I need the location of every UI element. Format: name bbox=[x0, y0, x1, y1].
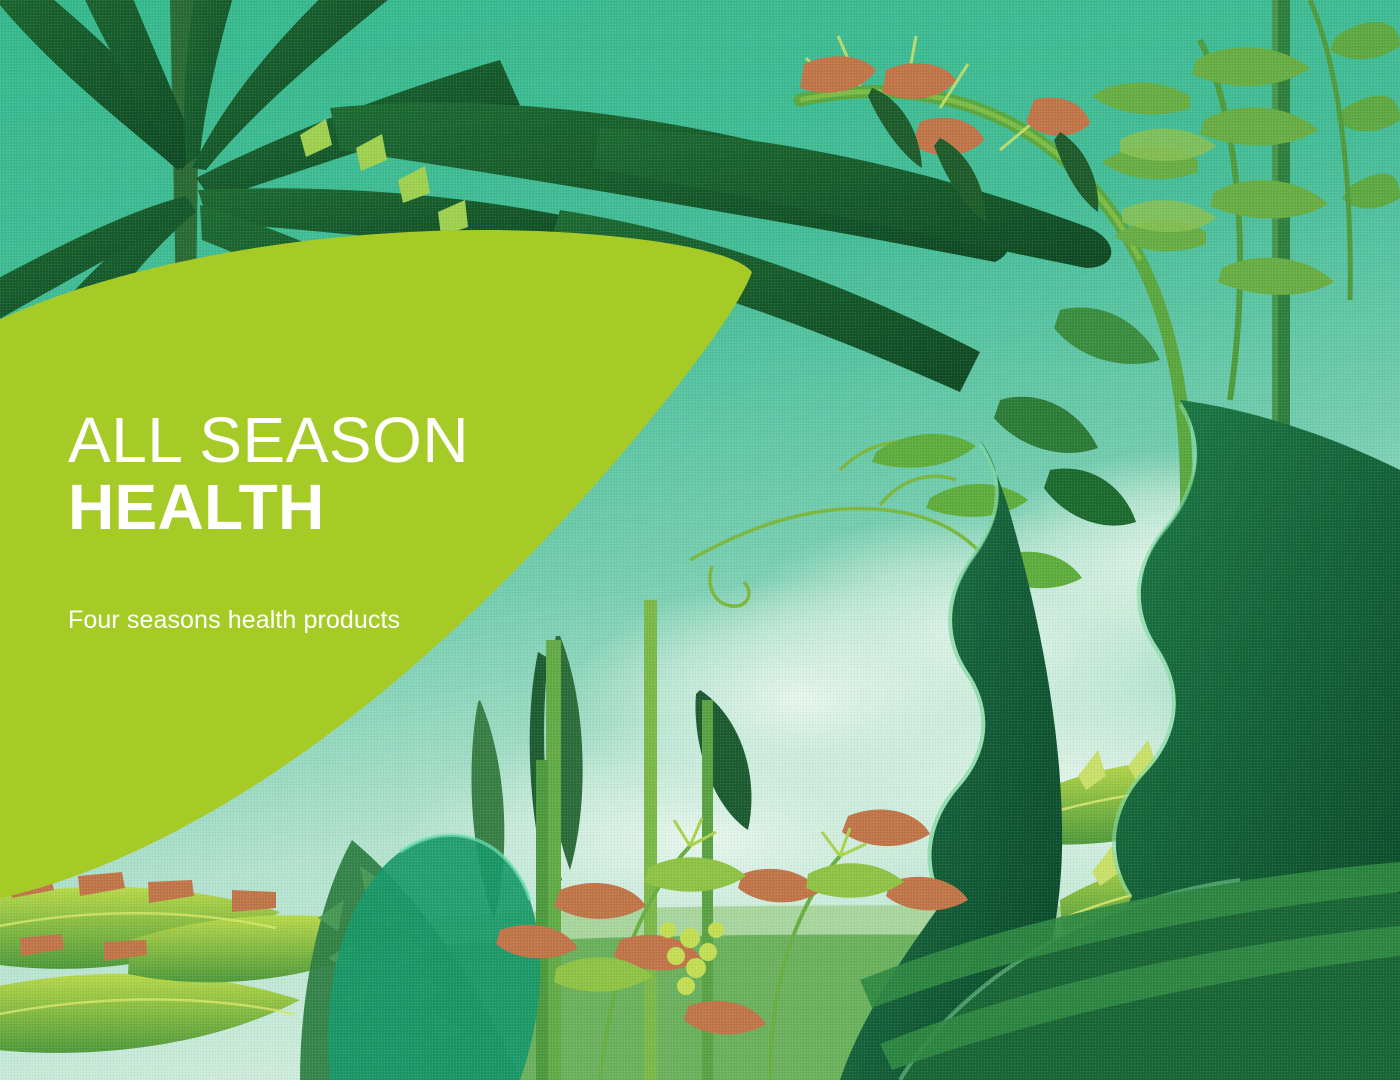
leaf-shape bbox=[0, 0, 1400, 1080]
leaf-badge-path bbox=[0, 230, 752, 902]
poster-canvas: ALL SEASON HEALTH Four seasons health pr… bbox=[0, 0, 1400, 1080]
